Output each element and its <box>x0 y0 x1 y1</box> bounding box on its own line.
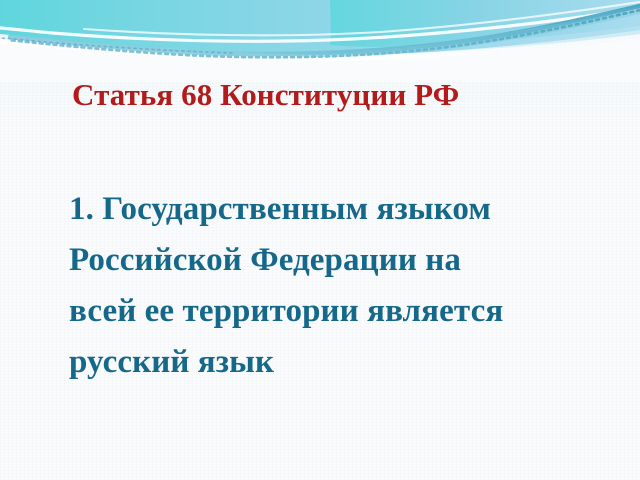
slide-title: Статья 68 Конституции РФ <box>72 76 612 114</box>
slide-body: 1. Государственным языком Российской Фед… <box>69 184 625 388</box>
body-line-3: всей ее территории является <box>69 286 625 337</box>
body-line-1: 1. Государственным языком <box>69 184 625 235</box>
body-line-4: русский язык <box>69 337 625 388</box>
presentation-slide: Статья 68 Конституции РФ 1. Государствен… <box>0 0 640 480</box>
body-line-2: Российской Федерации на <box>69 235 625 286</box>
slide-content: Статья 68 Конституции РФ 1. Государствен… <box>0 0 640 480</box>
